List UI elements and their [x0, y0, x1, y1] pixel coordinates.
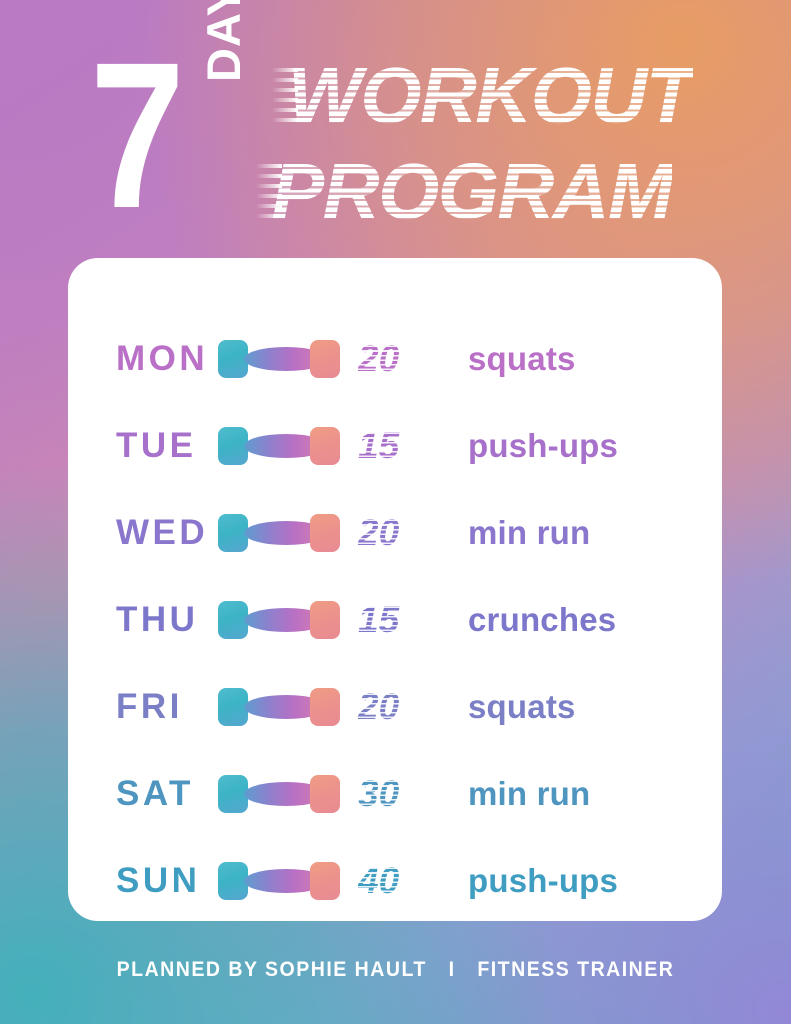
- schedule-row-sun: SUN40push-ups: [68, 838, 722, 924]
- schedule-rows: MON20squatsTUE15push-upsWED20min runTHU1…: [68, 288, 722, 921]
- dumbbell-icon: [210, 421, 358, 471]
- day-label: MON: [68, 339, 208, 379]
- reps-count: 15: [358, 599, 468, 641]
- title-line-program-text: PROGRAM: [272, 150, 672, 232]
- reps-count: 30: [358, 773, 468, 815]
- title-line-program: PROGRAM: [272, 150, 722, 232]
- title-unit-day: DAY: [200, 0, 247, 82]
- poster-header: 7 DAY WORKOUT PROGRAM: [0, 46, 791, 226]
- reps-count: 40: [358, 860, 468, 902]
- exercise-label: squats: [468, 688, 576, 726]
- dumbbell-plate-right: [310, 514, 340, 552]
- schedule-row-wed: WED20min run: [68, 490, 722, 576]
- schedule-row-sat: SAT30min run: [68, 751, 722, 837]
- footer-role: FITNESS TRAINER: [477, 958, 674, 981]
- title-line-workout-text: WORKOUT: [288, 54, 693, 136]
- dumbbell-icon: [210, 682, 358, 732]
- dumbbell-icon: [210, 334, 358, 384]
- dumbbell-icon: [210, 856, 358, 906]
- exercise-label: min run: [468, 775, 590, 813]
- dumbbell-plate-right: [310, 775, 340, 813]
- title-block: WORKOUT PROGRAM: [280, 46, 730, 210]
- day-label: SAT: [68, 774, 208, 814]
- dumbbell-icon: [210, 595, 358, 645]
- dumbbell-plate-right: [310, 601, 340, 639]
- dumbbell-plate-right: [310, 862, 340, 900]
- dumbbell-icon: [210, 769, 358, 819]
- exercise-label: push-ups: [468, 862, 618, 900]
- dumbbell-icon: [210, 508, 358, 558]
- day-label: SUN: [68, 861, 208, 901]
- schedule-row-tue: TUE15push-ups: [68, 403, 722, 489]
- title-number: 7: [90, 32, 177, 240]
- exercise-label: push-ups: [468, 427, 618, 465]
- dumbbell-plate-right: [310, 688, 340, 726]
- footer-credit: PLANNED BY SOPHIE HAULT I FITNESS TRAINE…: [28, 958, 764, 982]
- reps-count: 20: [358, 338, 468, 380]
- schedule-row-mon: MON20squats: [68, 316, 722, 402]
- schedule-row-thu: THU15crunches: [68, 577, 722, 663]
- exercise-label: squats: [468, 340, 576, 378]
- day-label: TUE: [68, 426, 208, 466]
- exercise-label: crunches: [468, 601, 616, 639]
- day-label: WED: [68, 513, 208, 553]
- dumbbell-plate-right: [310, 340, 340, 378]
- reps-count: 20: [358, 512, 468, 554]
- reps-count: 20: [358, 686, 468, 728]
- day-label: THU: [68, 600, 208, 640]
- schedule-row-fri: FRI20squats: [68, 664, 722, 750]
- exercise-label: min run: [468, 514, 590, 552]
- poster-canvas: 7 DAY WORKOUT PROGRAM MON20squatsTUE15pu…: [0, 0, 791, 1024]
- footer-planner: PLANNED BY SOPHIE HAULT: [117, 958, 427, 981]
- reps-count: 15: [358, 425, 468, 467]
- day-label: FRI: [68, 687, 208, 727]
- dumbbell-plate-right: [310, 427, 340, 465]
- schedule-card: MON20squatsTUE15push-upsWED20min runTHU1…: [68, 258, 722, 921]
- footer-separator: I: [434, 958, 471, 982]
- title-line-workout: WORKOUT: [288, 54, 738, 136]
